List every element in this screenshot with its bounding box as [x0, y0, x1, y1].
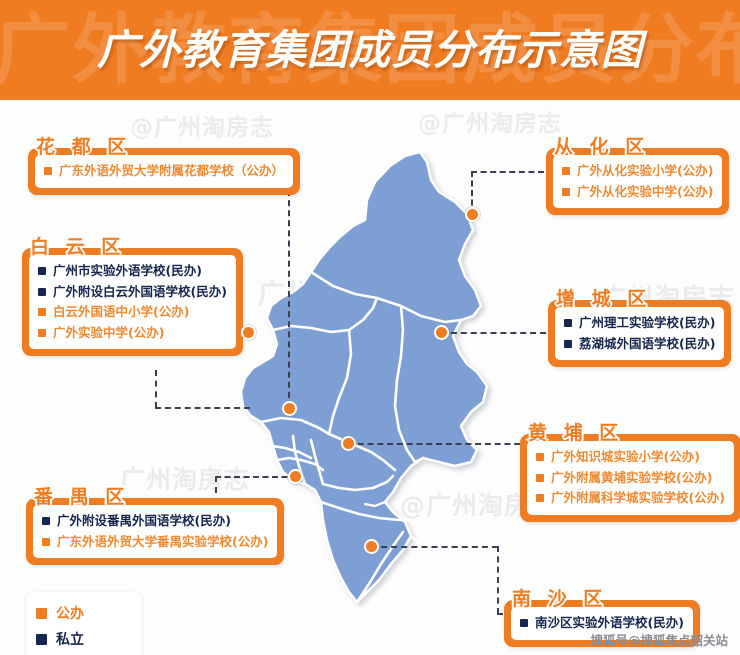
infographic-root: 广外教育集团成员分布示意 广外教育集团成员分布示意图 @广州淘房志 @广州淘房志… [0, 0, 740, 655]
list-item[interactable]: 荔湖城外国语学校(民办) [564, 334, 715, 355]
bullet-public-icon [562, 188, 570, 196]
district-list-baiyun: 广州市实验外语学校(民办) 广外附设白云外国语学校(民办) 白云外国语中小学(公… [29, 255, 236, 349]
title-banner: 广外教育集团成员分布示意 广外教育集团成员分布示意图 [0, 0, 740, 100]
connector-baiyun-v [155, 370, 157, 408]
district-title-zengcheng: 增 城 区 [556, 284, 651, 311]
watermark-1: @广州淘房志 [130, 108, 274, 142]
list-item[interactable]: 广外附属科学城实验学校(公办) [536, 488, 725, 509]
bullet-public-icon [562, 167, 570, 175]
bullet-public-icon [38, 308, 46, 316]
legend-label-public: 公办 [56, 603, 84, 623]
district-title-conghua: 从 化 区 [554, 132, 649, 159]
bullet-private-icon [38, 267, 46, 275]
legend-item-private: 私立 [36, 626, 132, 652]
list-item[interactable]: 广外附属黄埔实验学校(公办) [536, 468, 725, 489]
school-name: 广州理工实验学校(民办) [579, 317, 715, 330]
district-frame-baiyun: 广州市实验外语学校(民办) 广外附设白云外国语学校(民办) 白云外国语中小学(公… [22, 248, 243, 356]
marker-panyu[interactable] [288, 469, 303, 484]
school-name: 广外附设白云外国语学校(民办) [53, 286, 227, 299]
school-name: 广外知识城实验小学(公办) [551, 451, 700, 464]
school-name: 荔湖城外国语学校(民办) [579, 338, 715, 351]
marker-nansha[interactable] [364, 539, 379, 554]
school-name: 广东外语外贸大学番禺实验学校(公办) [57, 536, 268, 549]
list-item[interactable]: 白云外国语中小学(公办) [38, 302, 227, 323]
district-list-conghua: 广外从化实验小学(公办) 广外从化实验中学(公办) [553, 155, 722, 208]
list-item[interactable]: 广外知识城实验小学(公办) [536, 447, 725, 468]
district-list-zengcheng: 广州理工实验学校(民办) 荔湖城外国语学校(民办) [555, 307, 724, 360]
district-frame-huangpu: 广外知识城实验小学(公办) 广外附属黄埔实验学校(公办) 广外附属科学城实验学校… [520, 434, 740, 522]
bullet-private-icon [564, 340, 572, 348]
school-name: 广外附属科学城实验学校(公办) [551, 492, 725, 505]
guangzhou-map [215, 140, 545, 640]
list-item[interactable]: 广东外语外贸大学附属花都学校（公办） [44, 161, 284, 182]
bullet-public-icon [536, 494, 544, 502]
watermark-2: @广州淘房志 [418, 104, 562, 138]
school-name: 广外实验中学(公办) [53, 327, 164, 340]
list-item[interactable]: 广外从化实验中学(公办) [562, 182, 713, 203]
district-title-huangpu: 黄 埔 区 [528, 418, 623, 445]
district-title-panyu: 番 禺 区 [34, 482, 129, 509]
list-item[interactable]: 广外附设番禺外国语学校(民办) [42, 511, 268, 532]
list-item[interactable]: 广州理工实验学校(民办) [564, 313, 715, 334]
bullet-public-icon [42, 538, 50, 546]
attribution-text: 搜狐号@搜狐焦点韶关站 [590, 630, 728, 649]
school-name: 广外从化实验中学(公办) [577, 186, 713, 199]
legend-item-public: 公办 [36, 600, 132, 626]
bullet-private-icon [42, 517, 50, 525]
district-title-baiyun: 白 云 区 [30, 232, 125, 259]
marker-huadu[interactable] [282, 401, 297, 416]
marker-zengcheng[interactable] [434, 325, 449, 340]
bullet-private-icon [38, 288, 46, 296]
bullet-public-icon [536, 453, 544, 461]
school-name: 南沙区实验外语学校(民办) [535, 617, 684, 630]
bullet-public-icon [38, 329, 46, 337]
school-name: 广外附属黄埔实验学校(公办) [551, 472, 712, 485]
school-name: 广外从化实验小学(公办) [577, 165, 713, 178]
district-title-nansha: 南 沙 区 [512, 584, 607, 611]
list-item[interactable]: 广外从化实验小学(公办) [562, 161, 713, 182]
page-title: 广外教育集团成员分布示意图 [0, 16, 740, 76]
legend: 公办 私立 [26, 592, 142, 655]
map-svg [215, 140, 545, 640]
marker-huangpu[interactable] [341, 436, 356, 451]
school-name: 广外附设番禺外国语学校(民办) [57, 515, 231, 528]
school-name: 白云外国语中小学(公办) [53, 306, 189, 319]
list-item[interactable]: 广外附设白云外国语学校(民办) [38, 282, 227, 303]
district-list-huadu: 广东外语外贸大学附属花都学校（公办） [35, 155, 293, 188]
district-title-huadu: 花 都 区 [36, 132, 131, 159]
bullet-private-icon [520, 619, 528, 627]
legend-swatch-private-icon [36, 634, 47, 645]
legend-swatch-public-icon [36, 608, 47, 619]
list-item[interactable]: 广外实验中学(公办) [38, 323, 227, 344]
list-item[interactable]: 广东外语外贸大学番禺实验学校(公办) [42, 532, 268, 553]
bullet-public-icon [44, 167, 52, 175]
bullet-public-icon [536, 474, 544, 482]
district-list-huangpu: 广外知识城实验小学(公办) 广外附属黄埔实验学校(公办) 广外附属科学城实验学校… [527, 441, 734, 515]
school-name: 广州市实验外语学校(民办) [53, 265, 202, 278]
district-list-panyu: 广外附设番禺外国语学校(民办) 广东外语外贸大学番禺实验学校(公办) [33, 505, 277, 558]
school-name: 广东外语外贸大学附属花都学校（公办） [59, 165, 284, 178]
marker-baiyun[interactable] [241, 325, 256, 340]
bullet-private-icon [564, 319, 572, 327]
list-item[interactable]: 广州市实验外语学校(民办) [38, 261, 227, 282]
legend-label-private: 私立 [56, 629, 84, 649]
marker-conghua[interactable] [465, 207, 480, 222]
